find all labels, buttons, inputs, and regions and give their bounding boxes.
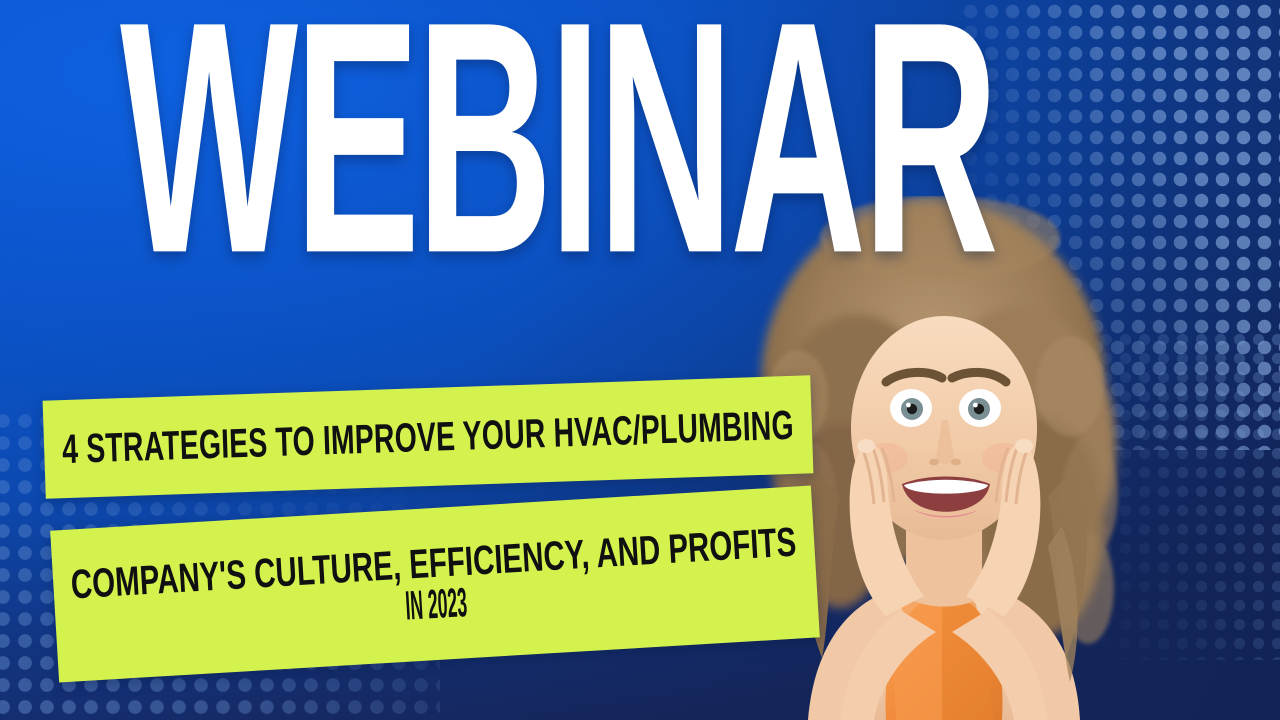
eye-left bbox=[890, 389, 932, 427]
banner-culture-line-2: IN 2023 bbox=[404, 580, 468, 629]
page-title: WEBINAR bbox=[120, 0, 686, 302]
eye-right bbox=[959, 389, 1001, 427]
webinar-poster: WEBINAR 4 STRATEGIES TO IMPROVE YOUR HVA… bbox=[0, 0, 1280, 720]
banner-strategies-line-1: 4 STRATEGIES TO IMPROVE YOUR HVAC/PLUMBI… bbox=[61, 401, 794, 473]
